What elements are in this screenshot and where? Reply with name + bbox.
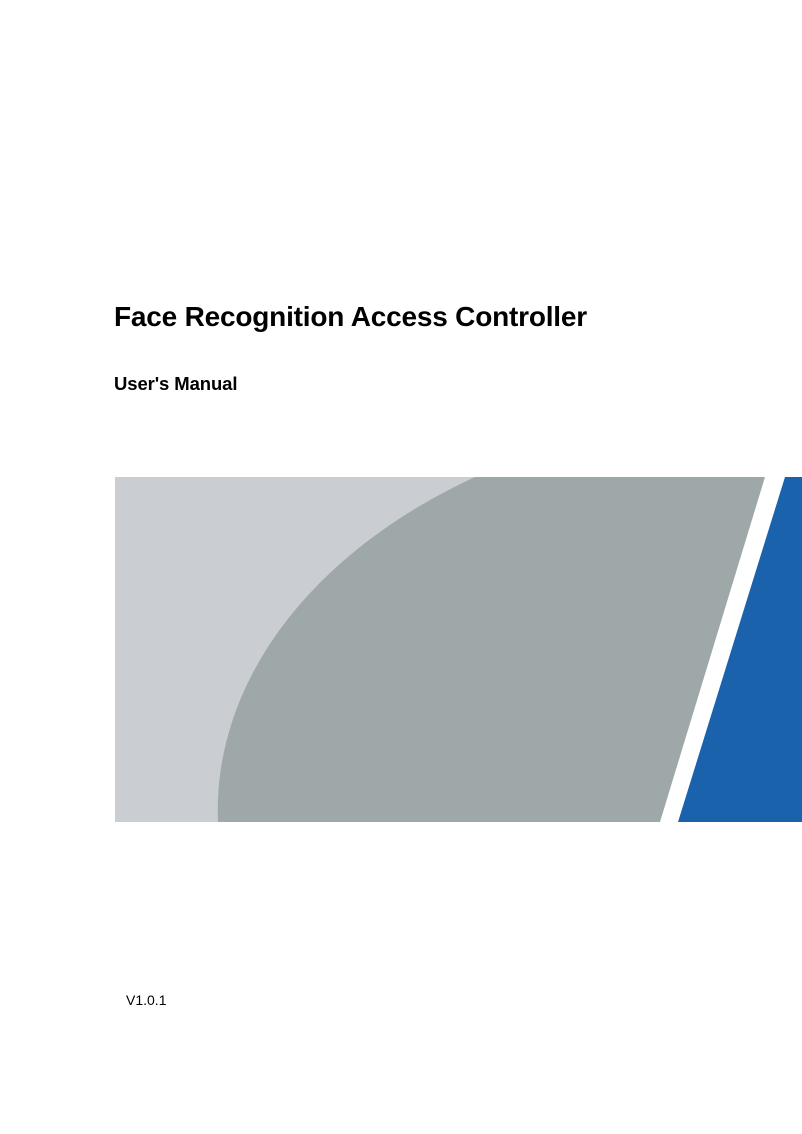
version-block: V1.0.1 bbox=[126, 992, 166, 1009]
cover-banner-graphic bbox=[115, 477, 802, 822]
page-title: Face Recognition Access Controller bbox=[114, 300, 734, 333]
page-subtitle: User's Manual bbox=[114, 333, 734, 395]
document-page: Face Recognition Access Controller User'… bbox=[0, 0, 802, 1134]
version-text: V1.0.1 bbox=[126, 992, 166, 1009]
cover-banner-svg bbox=[115, 477, 802, 822]
cover-title-block: Face Recognition Access Controller User'… bbox=[114, 300, 734, 395]
